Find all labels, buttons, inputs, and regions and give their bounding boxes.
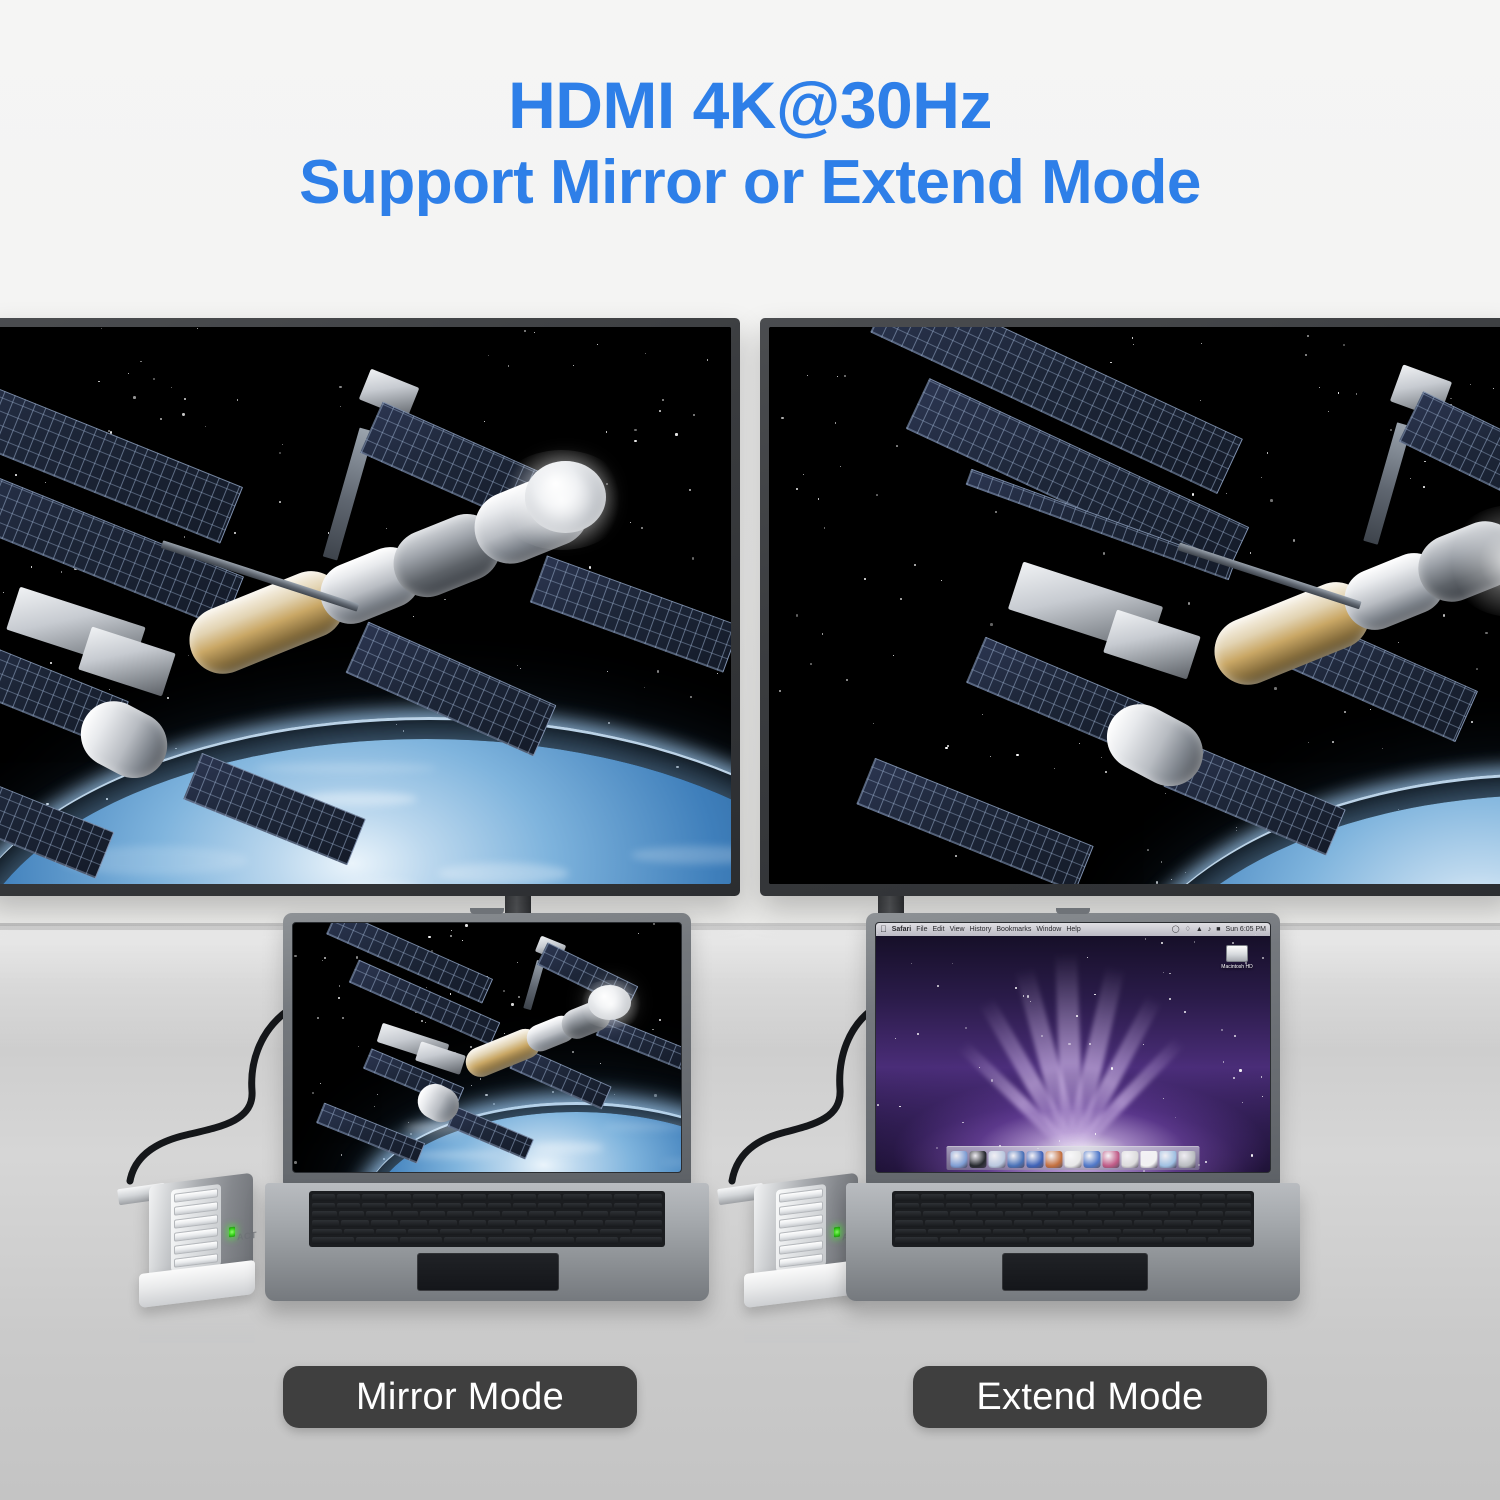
keyboard-row [895, 1211, 1251, 1218]
keyboard-key[interactable] [1044, 1220, 1072, 1227]
keyboard-key[interactable] [946, 1203, 970, 1210]
keyboard-key[interactable] [1125, 1194, 1149, 1201]
keyboard-key[interactable] [576, 1237, 618, 1244]
dashboard-icon[interactable] [970, 1151, 987, 1168]
star [1262, 1096, 1263, 1097]
keyboard-key[interactable] [393, 1211, 418, 1218]
headline-line-2: Support Mirror or Extend Mode [0, 151, 1500, 214]
star [1169, 998, 1171, 1000]
keyboard-key[interactable] [312, 1211, 337, 1218]
keyboard-key[interactable] [1074, 1203, 1098, 1210]
ical-icon[interactable] [1065, 1151, 1082, 1168]
star [1234, 1035, 1236, 1037]
keyboard-key[interactable] [895, 1220, 923, 1227]
star [937, 985, 939, 987]
keyboard-key[interactable] [463, 1203, 486, 1210]
star [1111, 1067, 1113, 1069]
keyboard-key[interactable] [366, 1211, 391, 1218]
left-laptop-hinge-notch [470, 908, 504, 914]
itunes-icon[interactable] [1084, 1151, 1101, 1168]
keyboard-key[interactable] [1220, 1229, 1251, 1236]
space-scene-right [769, 327, 1500, 884]
keyboard-key[interactable] [1202, 1203, 1226, 1210]
menu-item-history[interactable]: History [970, 926, 992, 933]
keyboard-key[interactable] [955, 1220, 983, 1227]
keyboard-key[interactable] [429, 1220, 456, 1227]
usb-port [174, 1227, 218, 1241]
keyboard-key[interactable] [1074, 1220, 1102, 1227]
hard-drive-icon [1226, 945, 1248, 962]
keyboard-key[interactable] [1176, 1203, 1200, 1210]
keyboard-key[interactable] [1088, 1211, 1114, 1218]
mail-icon[interactable] [989, 1151, 1006, 1168]
keyboard-key[interactable] [339, 1211, 364, 1218]
star [991, 1079, 994, 1082]
keyboard-key[interactable] [538, 1203, 561, 1210]
document-icon[interactable] [1141, 1151, 1158, 1168]
iphoto-icon[interactable] [1103, 1151, 1120, 1168]
macintosh-hd-label: Macintosh HD [1214, 964, 1260, 970]
keyboard-key[interactable] [312, 1220, 339, 1227]
star [1205, 1161, 1207, 1163]
hub-status-led [834, 1227, 840, 1238]
ichat-icon[interactable] [1027, 1151, 1044, 1168]
right-laptop-screen:  Safari File Edit View History Bookmark… [875, 922, 1271, 1173]
star [1030, 1001, 1031, 1002]
left-laptop-lid [283, 913, 691, 1185]
star [1068, 1043, 1070, 1045]
right-laptop:  Safari File Edit View History Bookmark… [866, 913, 1296, 1313]
star [1059, 1140, 1060, 1141]
keyboard-key[interactable] [605, 1220, 632, 1227]
star [1143, 1170, 1145, 1172]
hub-status-led [229, 1227, 235, 1238]
right-laptop-trackpad[interactable] [1002, 1253, 1148, 1291]
extend-mode-text: Extend Mode [976, 1376, 1203, 1419]
keyboard-key[interactable] [985, 1220, 1013, 1227]
finder-icon[interactable] [951, 1151, 968, 1168]
satellite-assembly [769, 327, 1500, 884]
keyboard-key[interactable] [447, 1211, 472, 1218]
keyboard-key[interactable] [895, 1203, 919, 1210]
right-laptop-base [846, 1183, 1300, 1301]
usb-port [779, 1188, 823, 1202]
usb-port [779, 1227, 823, 1241]
keyboard-key[interactable] [371, 1220, 398, 1227]
star [1169, 973, 1170, 974]
wallpaper-stars [876, 923, 1270, 1172]
star [1232, 942, 1234, 944]
star [1239, 1069, 1241, 1071]
star [1233, 1077, 1235, 1079]
keyboard-key[interactable] [474, 1211, 499, 1218]
keyboard-key[interactable] [1014, 1220, 1042, 1227]
star [1041, 1035, 1043, 1037]
usb-port [174, 1201, 218, 1215]
keyboard-key[interactable] [576, 1220, 603, 1227]
keyboard-key[interactable] [312, 1237, 354, 1244]
star [962, 1122, 964, 1124]
menu-item-window[interactable]: Window [1036, 926, 1061, 933]
keyboard-key[interactable] [504, 1229, 534, 1236]
keyboard-key[interactable] [488, 1203, 511, 1210]
wifi-icon[interactable]: ▲ [1196, 926, 1203, 933]
headline-block: HDMI 4K@30Hz Support Mirror or Extend Mo… [0, 72, 1500, 215]
star [1251, 1154, 1253, 1156]
star [1089, 1043, 1091, 1045]
right-laptop-hinge-notch [1056, 908, 1090, 914]
keyboard-key[interactable] [925, 1220, 953, 1227]
keyboard-key[interactable] [637, 1211, 662, 1218]
bluetooth-icon[interactable]: ♢ [1185, 926, 1191, 933]
keyboard-key[interactable] [1090, 1229, 1121, 1236]
keyboard-key[interactable] [413, 1194, 436, 1201]
keyboard-key[interactable] [589, 1194, 612, 1201]
usb-port [779, 1201, 823, 1215]
keyboard-key[interactable] [1100, 1194, 1124, 1201]
menu-item-safari[interactable]: Safari [892, 926, 911, 933]
keyboard-key[interactable] [312, 1194, 335, 1201]
usb-port [174, 1240, 218, 1254]
keyboard-key[interactable] [337, 1203, 360, 1210]
keyboard-key[interactable] [312, 1229, 342, 1236]
keyboard-key[interactable] [940, 1237, 983, 1244]
keyboard-row [895, 1203, 1251, 1210]
keyboard-key[interactable] [472, 1229, 502, 1236]
keyboard-key[interactable] [356, 1237, 398, 1244]
keyboard-key[interactable] [538, 1194, 561, 1201]
keyboard-key[interactable] [1193, 1220, 1221, 1227]
mirror-mode-label: Mirror Mode [283, 1366, 637, 1428]
star [1242, 1102, 1243, 1103]
keyboard-key[interactable] [632, 1229, 662, 1236]
keyboard-key[interactable] [1060, 1211, 1086, 1218]
safari-icon[interactable] [1008, 1151, 1025, 1168]
star [1087, 957, 1089, 959]
star [1184, 1011, 1186, 1013]
keyboard-key[interactable] [1023, 1194, 1047, 1201]
keyboard-key[interactable] [1119, 1237, 1162, 1244]
keyboard-key[interactable] [362, 1194, 385, 1201]
keyboard-row [312, 1237, 662, 1244]
keyboard-key[interactable] [972, 1194, 996, 1201]
star [1262, 957, 1264, 959]
hub-reflection [139, 1303, 255, 1343]
keyboard-key[interactable] [978, 1211, 1004, 1218]
keyboard-key[interactable] [488, 1237, 530, 1244]
right-laptop-keyboard[interactable] [892, 1191, 1254, 1247]
trash-icon[interactable] [1179, 1151, 1196, 1168]
keyboard-key[interactable] [1029, 1237, 1072, 1244]
keyboard-key[interactable] [532, 1237, 574, 1244]
usb-port [174, 1214, 218, 1228]
battery-icon[interactable]: ■ [1216, 926, 1220, 933]
keyboard-key[interactable] [488, 1194, 511, 1201]
star [1221, 1029, 1222, 1030]
keyboard-key[interactable] [635, 1220, 662, 1227]
star [936, 1147, 938, 1149]
keyboard-key[interactable] [1125, 1203, 1149, 1210]
star [1161, 942, 1163, 944]
keyboard-key[interactable] [639, 1203, 662, 1210]
space-scene-laptop-left [293, 923, 681, 1172]
keyboard-key[interactable] [895, 1211, 921, 1218]
satellite-assembly [0, 327, 731, 884]
keyboard-key[interactable] [337, 1194, 360, 1201]
keyboard-key[interactable] [583, 1211, 608, 1218]
keyboard-key[interactable] [620, 1237, 662, 1244]
usb-port [779, 1240, 823, 1254]
keyboard-key[interactable] [1104, 1220, 1132, 1227]
menu-item-edit[interactable]: Edit [933, 926, 945, 933]
keyboard-key[interactable] [993, 1229, 1024, 1236]
keyboard-key[interactable] [1164, 1220, 1192, 1227]
product-marketing-image: HDMI 4K@30Hz Support Mirror or Extend Mo… [0, 0, 1500, 1500]
star [911, 963, 912, 964]
menu-item-help[interactable]: Help [1066, 926, 1080, 933]
keyboard-key[interactable] [376, 1229, 406, 1236]
star [877, 1104, 879, 1106]
keyboard-key[interactable] [1058, 1229, 1089, 1236]
keyboard-key[interactable] [985, 1237, 1028, 1244]
star [1194, 941, 1195, 942]
keyboard-row [312, 1203, 662, 1210]
hub-port-panel [776, 1184, 826, 1272]
star [1094, 994, 1096, 996]
left-usb-hub: ACT [133, 1175, 263, 1325]
keyboard-key[interactable] [408, 1229, 438, 1236]
star [917, 1033, 919, 1035]
keyboard-key[interactable] [1188, 1229, 1219, 1236]
keyboard-key[interactable] [568, 1229, 598, 1236]
left-laptop-screen [292, 922, 682, 1173]
hub-reflection [744, 1303, 860, 1343]
time-machine-icon[interactable] [1122, 1151, 1139, 1168]
keyboard-key[interactable] [400, 1220, 427, 1227]
volume-icon[interactable]: ♪ [1208, 926, 1212, 933]
star [899, 1106, 900, 1107]
hub-brand-logo: ACT [237, 1230, 257, 1242]
keyboard-key[interactable] [556, 1211, 581, 1218]
keyboard-key[interactable] [488, 1220, 515, 1227]
star [1145, 938, 1147, 940]
keyboard-key[interactable] [1048, 1203, 1072, 1210]
keyboard-key[interactable] [928, 1229, 959, 1236]
keyboard-key[interactable] [614, 1203, 637, 1210]
keyboard-key[interactable] [950, 1211, 976, 1218]
keyboard-key[interactable] [438, 1203, 461, 1210]
keyboard-key[interactable] [400, 1237, 442, 1244]
keyboard-key[interactable] [610, 1211, 635, 1218]
right-laptop-lid:  Safari File Edit View History Bookmark… [866, 913, 1280, 1185]
keyboard-key[interactable] [972, 1203, 996, 1210]
keyboard-key[interactable] [529, 1211, 554, 1218]
keyboard-key[interactable] [1151, 1203, 1175, 1210]
menubar-clock[interactable]: Sun 6:05 PM [1226, 926, 1266, 933]
keyboard-key[interactable] [459, 1220, 486, 1227]
keyboard-key[interactable] [513, 1203, 536, 1210]
keyboard-key[interactable] [413, 1203, 436, 1210]
left-monitor-screen [0, 327, 731, 884]
keyboard-key[interactable] [600, 1229, 630, 1236]
keyboard-key[interactable] [502, 1211, 527, 1218]
macos-desktop:  Safari File Edit View History Bookmark… [876, 923, 1270, 1172]
keyboard-key[interactable] [1198, 1211, 1224, 1218]
keyboard-key[interactable] [563, 1203, 586, 1210]
keyboard-key[interactable] [1164, 1237, 1207, 1244]
usb-port [174, 1188, 218, 1202]
address-book-icon[interactable] [1046, 1151, 1063, 1168]
keyboard-key[interactable] [895, 1229, 926, 1236]
spotlight-search-icon[interactable]: ◯ [1172, 926, 1180, 933]
keyboard-key[interactable] [387, 1203, 410, 1210]
keyboard-key[interactable] [420, 1211, 445, 1218]
keyboard-key[interactable] [1048, 1194, 1072, 1201]
keyboard-key[interactable] [589, 1203, 612, 1210]
keyboard-key[interactable] [1005, 1211, 1031, 1218]
keyboard-row [312, 1220, 662, 1227]
keyboard-key[interactable] [1176, 1194, 1200, 1201]
keyboard-key[interactable] [1170, 1211, 1196, 1218]
keyboard-key[interactable] [1025, 1229, 1056, 1236]
keyboard-key[interactable] [1123, 1229, 1154, 1236]
keyboard-row [895, 1237, 1251, 1244]
keyboard-key[interactable] [344, 1229, 374, 1236]
keyboard-key[interactable] [463, 1194, 486, 1201]
star [895, 1038, 896, 1039]
star [1095, 1133, 1097, 1135]
menu-item-bookmarks[interactable]: Bookmarks [996, 926, 1031, 933]
keyboard-key[interactable] [547, 1220, 574, 1227]
headline-line-1: HDMI 4K@30Hz [0, 72, 1500, 139]
hub-port-panel [171, 1184, 221, 1272]
keyboard-row [312, 1229, 662, 1236]
keyboard-key[interactable] [960, 1229, 991, 1236]
keyboard-key[interactable] [1033, 1211, 1059, 1218]
star [1023, 995, 1025, 997]
star [1076, 1015, 1078, 1017]
keyboard-key[interactable] [440, 1229, 470, 1236]
keyboard-key[interactable] [362, 1203, 385, 1210]
satellite-assembly [293, 923, 681, 1172]
macos-menu-bar[interactable]:  Safari File Edit View History Bookmark… [876, 923, 1270, 936]
keyboard-key[interactable] [1115, 1211, 1141, 1218]
star [1163, 1098, 1164, 1099]
left-laptop-base [265, 1183, 709, 1301]
keyboard-key[interactable] [1151, 1194, 1175, 1201]
mirror-mode-text: Mirror Mode [356, 1376, 564, 1419]
keyboard-key[interactable] [1074, 1194, 1098, 1201]
keyboard-key[interactable] [1227, 1203, 1251, 1210]
keyboard-key[interactable] [1100, 1203, 1124, 1210]
space-scene-left [0, 327, 731, 884]
keyboard-key[interactable] [387, 1194, 410, 1201]
usb-port [779, 1214, 823, 1228]
keyboard-key[interactable] [536, 1229, 566, 1236]
left-laptop-keyboard[interactable] [309, 1191, 665, 1247]
keyboard-key[interactable] [921, 1203, 945, 1210]
keyboard-row [312, 1194, 662, 1201]
keyboard-key[interactable] [923, 1211, 949, 1218]
keyboard-key[interactable] [997, 1194, 1021, 1201]
keyboard-key[interactable] [517, 1220, 544, 1227]
left-laptop [283, 913, 703, 1313]
right-monitor [760, 318, 1500, 896]
keyboard-row [895, 1220, 1251, 1227]
macos-dock[interactable] [947, 1146, 1200, 1170]
aurora-wallpaper [876, 923, 1270, 1172]
keyboard-key[interactable] [1023, 1203, 1047, 1210]
keyboard-key[interactable] [1208, 1237, 1251, 1244]
keyboard-row [312, 1211, 662, 1218]
keyboard-key[interactable] [1225, 1211, 1251, 1218]
keyboard-key[interactable] [639, 1194, 662, 1201]
star [1143, 1044, 1144, 1045]
keyboard-key[interactable] [312, 1203, 335, 1210]
star [1163, 972, 1164, 973]
keyboard-key[interactable] [1134, 1220, 1162, 1227]
star [1027, 995, 1029, 997]
left-monitor [0, 318, 740, 896]
menu-item-file[interactable]: File [916, 926, 927, 933]
keyboard-key[interactable] [1202, 1194, 1226, 1201]
star [1261, 1076, 1263, 1078]
star [979, 1067, 980, 1068]
keyboard-key[interactable] [1223, 1220, 1251, 1227]
right-monitor-screen [769, 327, 1500, 884]
keyboard-key[interactable] [444, 1237, 486, 1244]
keyboard-row [895, 1229, 1251, 1236]
downloads-folder-icon[interactable] [1160, 1151, 1177, 1168]
star [1223, 1061, 1224, 1062]
keyboard-key[interactable] [1074, 1237, 1117, 1244]
keyboard-key[interactable] [1227, 1194, 1251, 1201]
keyboard-key[interactable] [895, 1237, 938, 1244]
keyboard-key[interactable] [946, 1194, 970, 1201]
menu-item-view[interactable]: View [950, 926, 965, 933]
apple-menu-icon[interactable]:  [880, 925, 887, 934]
keyboard-key[interactable] [921, 1194, 945, 1201]
star [952, 963, 953, 964]
keyboard-key[interactable] [895, 1194, 919, 1201]
left-laptop-trackpad[interactable] [417, 1253, 559, 1291]
star [965, 1027, 967, 1029]
extend-mode-label: Extend Mode [913, 1366, 1267, 1428]
keyboard-key[interactable] [513, 1194, 536, 1201]
keyboard-key[interactable] [563, 1194, 586, 1201]
keyboard-key[interactable] [341, 1220, 368, 1227]
star [1175, 1117, 1176, 1118]
star [1015, 987, 1017, 989]
keyboard-key[interactable] [1155, 1229, 1186, 1236]
keyboard-key[interactable] [1143, 1211, 1169, 1218]
macintosh-hd-desktop-icon[interactable]: Macintosh HD [1214, 945, 1260, 970]
keyboard-key[interactable] [614, 1194, 637, 1201]
keyboard-row [895, 1194, 1251, 1201]
keyboard-key[interactable] [997, 1203, 1021, 1210]
keyboard-key[interactable] [438, 1194, 461, 1201]
